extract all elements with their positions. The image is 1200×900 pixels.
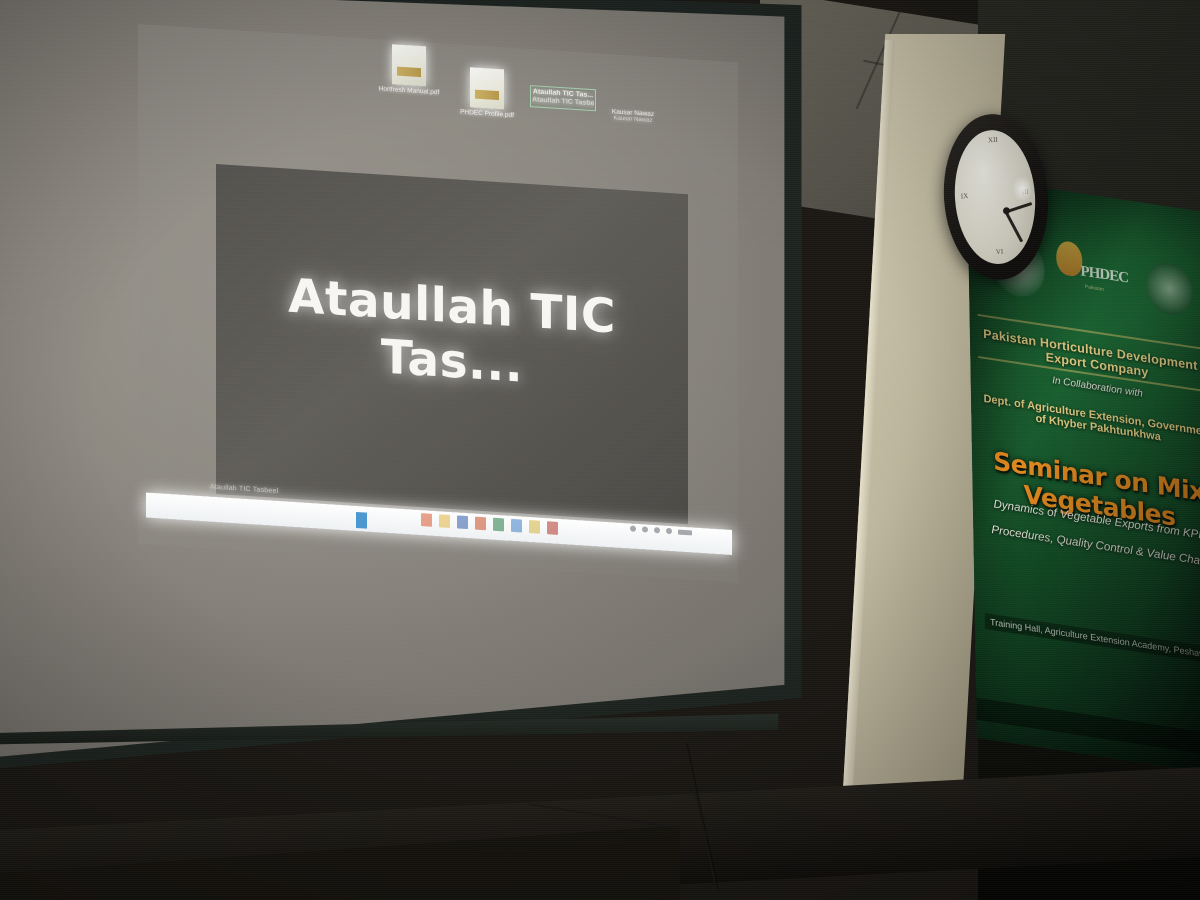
pdf-reader-icon[interactable]	[547, 521, 558, 535]
desktop-icon-1[interactable]: Hortfresh Manual.pdf	[378, 43, 440, 96]
desktop-icon-2[interactable]: PHDEC Profile.pdf	[456, 66, 518, 119]
action-center-icon[interactable]	[666, 528, 672, 534]
clock-face: XII III VI IX	[950, 127, 1039, 266]
desktop-icon-1-label: Hortfresh Manual.pdf	[378, 85, 440, 96]
pdf-document-icon	[392, 44, 426, 86]
word-icon[interactable]	[457, 515, 468, 529]
show-hidden-icons[interactable]	[630, 525, 636, 531]
powerpoint-icon[interactable]	[475, 517, 486, 531]
start-button[interactable]	[356, 512, 367, 529]
clock-tick-6: VI	[996, 248, 1004, 256]
network-icon[interactable]	[642, 526, 648, 532]
photo-scene: PHDEC Pakistan Pakistan Horticulture Dev…	[0, 0, 1200, 900]
folder-explorer-icon[interactable]	[439, 514, 450, 528]
clock-tick-12: XII	[988, 136, 998, 145]
clock-minute-hand	[1005, 211, 1023, 242]
internet-explorer-icon[interactable]	[421, 513, 432, 527]
chrome-icon[interactable]	[529, 520, 540, 534]
pdf-document-icon	[470, 67, 504, 109]
desktop-icon-2-label: PHDEC Profile.pdf	[456, 108, 518, 119]
volume-icon[interactable]	[654, 527, 660, 533]
screen-surface: Hortfresh Manual.pdf PHDEC Profile.pdf A…	[0, 0, 860, 780]
desktop-icon-3-selected[interactable]: Ataullah TIC Tas... Ataullah TIC Tasbeel	[530, 85, 596, 111]
projector-screen: Hortfresh Manual.pdf PHDEC Profile.pdf A…	[0, 0, 880, 860]
clock-area[interactable]	[678, 529, 692, 535]
media-player-icon[interactable]	[511, 519, 522, 533]
projected-desktop: Hortfresh Manual.pdf PHDEC Profile.pdf A…	[138, 24, 738, 582]
desktop-icon-4[interactable]: Kausar Nawaz Kausar Nawaz	[602, 108, 664, 126]
clock-center-pin	[1003, 207, 1010, 214]
clock-glass-glare	[1012, 175, 1034, 202]
excel-icon[interactable]	[493, 518, 504, 532]
clock-tick-9: IX	[961, 192, 969, 200]
